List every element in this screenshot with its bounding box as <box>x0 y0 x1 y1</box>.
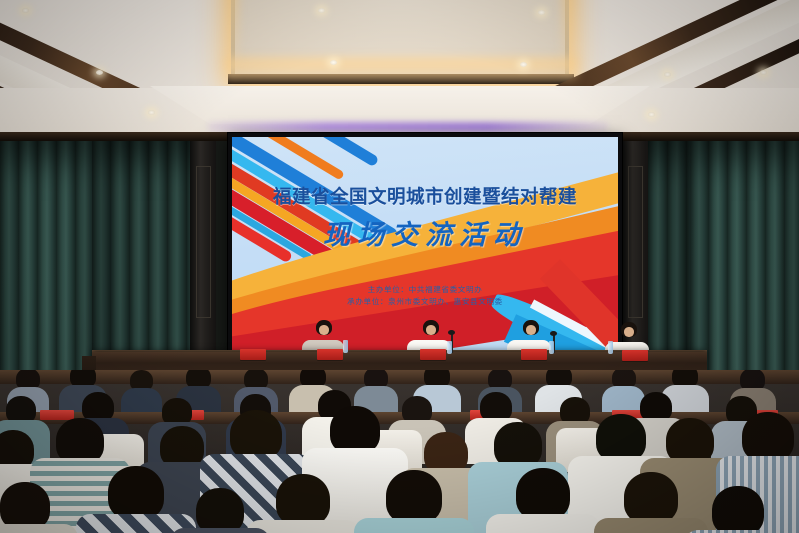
head-table-nameplate <box>317 349 343 360</box>
water-bottle <box>549 341 554 354</box>
audience-shirt <box>170 528 270 533</box>
downlight-icon <box>760 70 767 75</box>
audience-head <box>276 474 330 526</box>
downlight-icon <box>22 8 29 13</box>
water-bottle <box>447 341 452 354</box>
head-table-nameplate <box>240 349 266 360</box>
audience-area <box>0 370 799 533</box>
cove-light-left <box>226 0 238 82</box>
audience-head <box>230 410 282 460</box>
downlight-icon <box>538 10 545 15</box>
pilaster-inlay <box>196 166 211 318</box>
audience-name-placard <box>40 410 74 420</box>
screen-subtitle-line-2: 承办单位：泉州市委文明办、惠安县文明委 <box>232 296 618 307</box>
audience-head <box>386 470 442 524</box>
screen-title-line-2: 现场交流活动 <box>232 213 618 252</box>
head-table-nameplate <box>622 350 648 361</box>
panelist-face <box>624 327 634 337</box>
led-accent-strip <box>208 122 608 132</box>
downlight-icon <box>148 110 155 115</box>
audience-head <box>330 406 380 454</box>
downlight-icon <box>318 8 325 13</box>
audience-head <box>742 412 794 462</box>
audience-shirt <box>486 514 600 533</box>
downlight-icon <box>664 72 671 77</box>
audience-shirt <box>0 524 78 533</box>
downlight-icon <box>520 62 527 67</box>
audience-head <box>596 414 646 462</box>
pilaster-inlay <box>628 166 643 318</box>
screen-title-line-1: 福建省全国文明城市创建暨结对帮建 <box>232 183 618 209</box>
water-bottle <box>608 341 613 354</box>
panelist-face <box>426 325 436 335</box>
downlight-icon <box>330 60 337 65</box>
audience-head <box>712 486 764 533</box>
head-table-nameplate <box>521 349 547 360</box>
audience-head <box>624 472 678 524</box>
microphone-head-icon <box>550 331 557 336</box>
audience-head <box>108 466 164 520</box>
head-table-nameplate <box>420 349 446 360</box>
curtain-left-outer <box>0 138 92 388</box>
conference-photo-scene: 福建省全国文明城市创建暨结对帮建 现场交流活动 主办单位：中共福建省委文明办 承… <box>0 0 799 533</box>
downlight-icon <box>648 112 655 117</box>
audience-head <box>0 482 50 530</box>
panelist-face <box>526 325 536 335</box>
downlight-icon <box>96 70 103 75</box>
panelist-face <box>319 325 329 335</box>
ceiling-soffit-notch <box>150 86 650 124</box>
water-bottle <box>343 340 348 353</box>
audience-head <box>516 468 570 520</box>
audience-head <box>196 488 244 533</box>
cove-light-right <box>562 0 574 82</box>
screen-subtitle-line-1: 主办单位：中共福建省委文明办 <box>232 284 618 295</box>
audience-shirt <box>354 518 474 533</box>
microphone-head-icon <box>448 330 455 335</box>
